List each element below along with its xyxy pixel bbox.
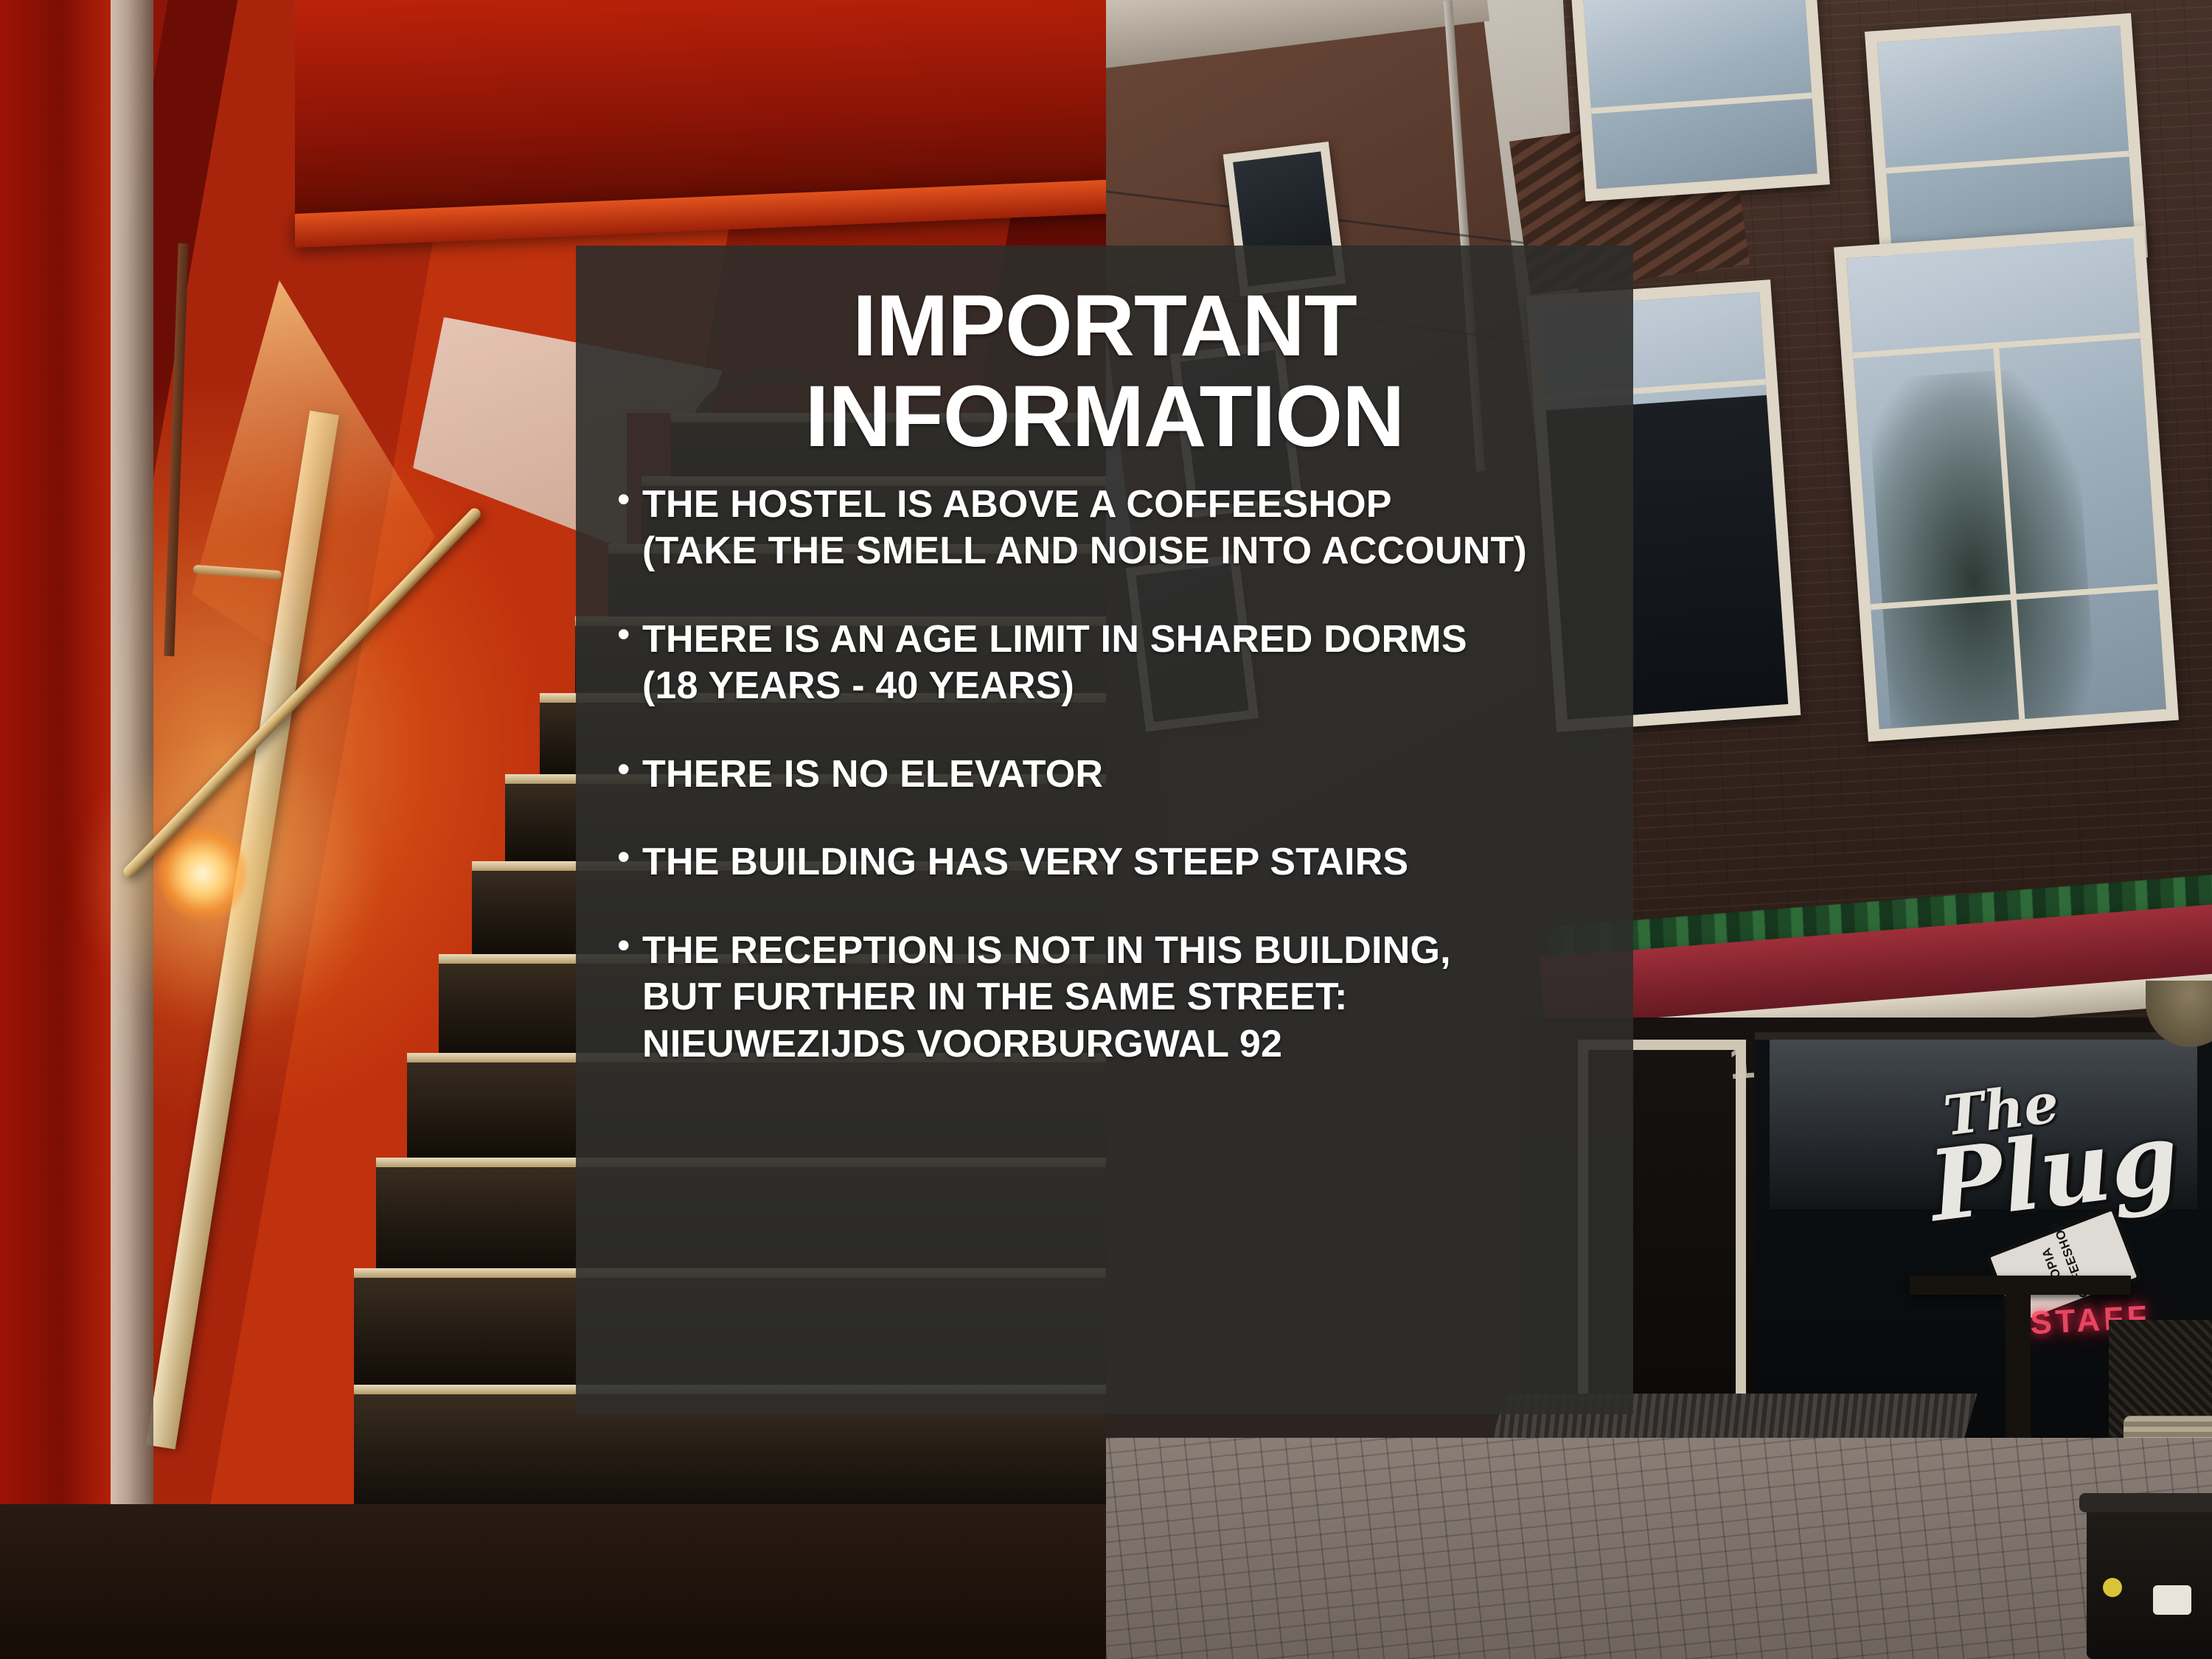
hostel-window-upper-left	[1571, 0, 1830, 201]
trash-bin-rim	[2079, 1493, 2212, 1512]
bullet-marker-icon: •	[617, 747, 642, 792]
list-item-line: (18 YEARS - 40 YEARS)	[642, 663, 1601, 709]
stairwell-floor	[0, 1504, 1106, 1659]
list-item: • THERE IS NO ELEVATOR	[617, 751, 1601, 798]
list-item-line: NIEUWEZIJDS VOORBURGWAL 92	[642, 1021, 1601, 1068]
hostel-window-mid-right	[1834, 226, 2179, 742]
list-item: • THE RECEPTION IS NOT IN THIS BUILDING,…	[617, 928, 1601, 1068]
list-item: • THE HOSTEL IS ABOVE A COFFEESHOP (TAKE…	[617, 481, 1601, 575]
outdoor-table	[1910, 1276, 2131, 1295]
list-item: • THERE IS AN AGE LIMIT IN SHARED DORMS …	[617, 616, 1601, 710]
bullet-marker-icon: •	[617, 612, 642, 657]
list-item-line: BUT FURTHER IN THE SAME STREET:	[642, 974, 1601, 1020]
list-item-line: THE HOSTEL IS ABOVE A COFFEESHOP	[642, 481, 1601, 528]
bullet-marker-icon: •	[617, 923, 642, 968]
trash-bin	[2087, 1497, 2212, 1659]
bullet-marker-icon: •	[617, 835, 642, 880]
bin-sticker-icon	[2103, 1578, 2122, 1597]
bin-sticker-icon	[2153, 1585, 2191, 1615]
title-line-2: INFORMATION	[576, 372, 1633, 462]
page-title: IMPORTANT INFORMATION	[576, 281, 1633, 462]
title-line-1: IMPORTANT	[576, 281, 1633, 372]
light-bulb-icon	[159, 826, 247, 922]
list-item-line: THE BUILDING HAS VERY STEEP STAIRS	[642, 839, 1601, 886]
brick-pavement	[1106, 1438, 2212, 1659]
list-item: • THE BUILDING HAS VERY STEEP STAIRS	[617, 839, 1601, 886]
list-item-line: (TAKE THE SMELL AND NOISE INTO ACCOUNT)	[642, 528, 1601, 574]
bullet-marker-icon: •	[617, 477, 642, 522]
important-information-panel: IMPORTANT INFORMATION • THE HOSTEL IS AB…	[576, 246, 1633, 1414]
slide-canvas: 15 The Plug UTOPIA COFFEESHOP STAFF	[0, 0, 2212, 1659]
list-item-line: THE RECEPTION IS NOT IN THIS BUILDING,	[642, 928, 1601, 974]
list-item-line: THERE IS AN AGE LIMIT IN SHARED DORMS	[642, 616, 1601, 663]
list-item-line: THERE IS NO ELEVATOR	[642, 751, 1601, 798]
information-list: • THE HOSTEL IS ABOVE A COFFEESHOP (TAKE…	[617, 481, 1601, 1068]
